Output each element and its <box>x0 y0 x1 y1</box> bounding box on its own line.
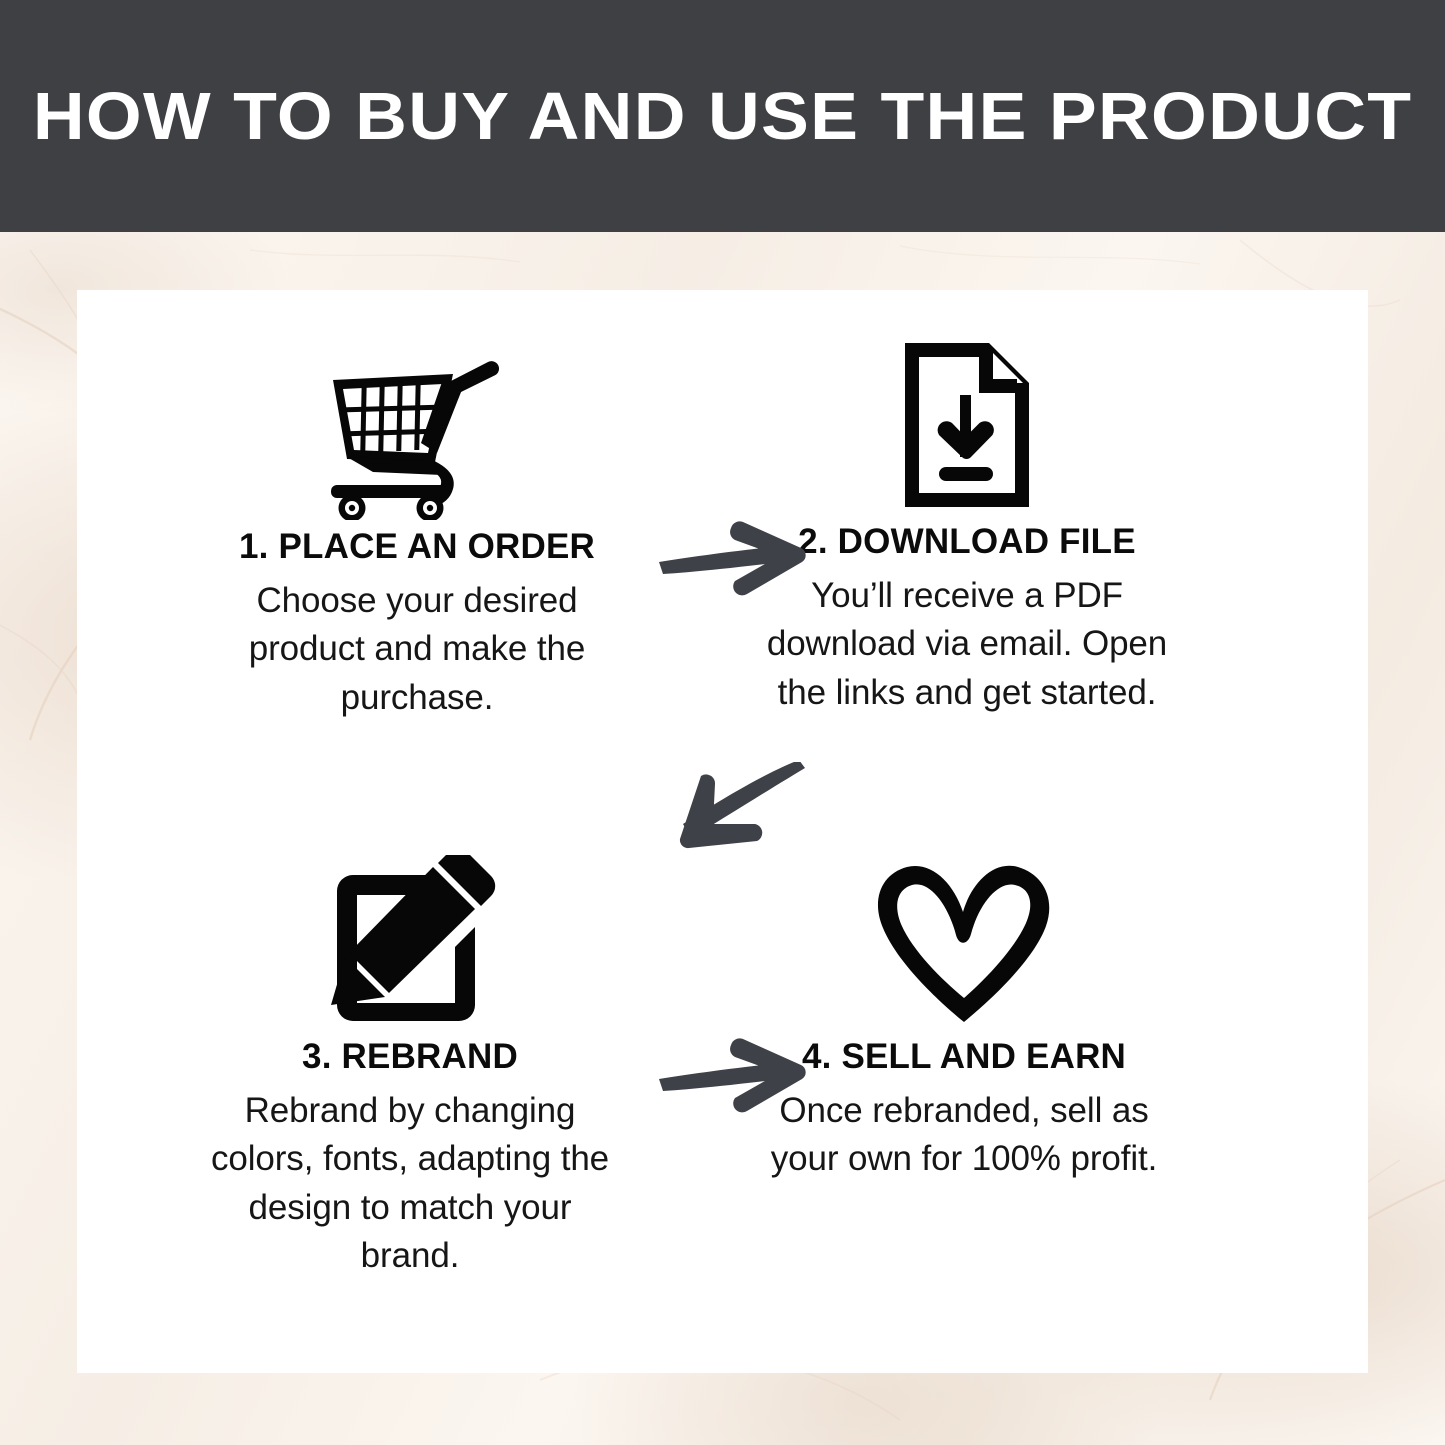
step-1-body: Choose your desired product and make the… <box>202 577 632 723</box>
step-3-title: 3. REBRAND <box>195 1038 625 1077</box>
step-2-title: 2. DOWNLOAD FILE <box>752 523 1182 562</box>
arrow-right-step3-to-step4 <box>655 1035 815 1120</box>
step-3-rebrand: 3. REBRAND Rebrand by changing colors, f… <box>195 840 625 1281</box>
step-4-sell-and-earn: 4. SELL AND EARN Once rebranded, sell as… <box>749 835 1179 1184</box>
infographic-page: HOW TO BUY AND USE THE PRODUCT <box>0 0 1445 1445</box>
step-3-body: Rebrand by changing colors, fonts, adapt… <box>195 1087 625 1282</box>
header-banner: HOW TO BUY AND USE THE PRODUCT <box>0 0 1445 232</box>
step-2-download-file: 2. DOWNLOAD FILE You’ll receive a PDF do… <box>752 320 1182 717</box>
page-title: HOW TO BUY AND USE THE PRODUCT <box>33 83 1412 150</box>
step-2-body: You’ll receive a PDF download via email.… <box>752 572 1182 718</box>
edit-pencil-icon <box>315 855 505 1030</box>
step-1-title: 1. PLACE AN ORDER <box>202 528 632 567</box>
download-file-icon <box>897 335 1037 515</box>
heart-icon <box>867 858 1062 1030</box>
arrow-right-step1-to-step2 <box>655 518 815 603</box>
shopping-cart-icon <box>317 335 517 520</box>
step-2-icon-wrap <box>752 320 1182 515</box>
arrow-diagonal-step2-to-step3 <box>655 762 815 872</box>
step-3-icon-wrap <box>195 840 625 1030</box>
step-1-icon-wrap <box>202 330 632 520</box>
step-1-place-an-order: 1. PLACE AN ORDER Choose your desired pr… <box>202 330 632 722</box>
